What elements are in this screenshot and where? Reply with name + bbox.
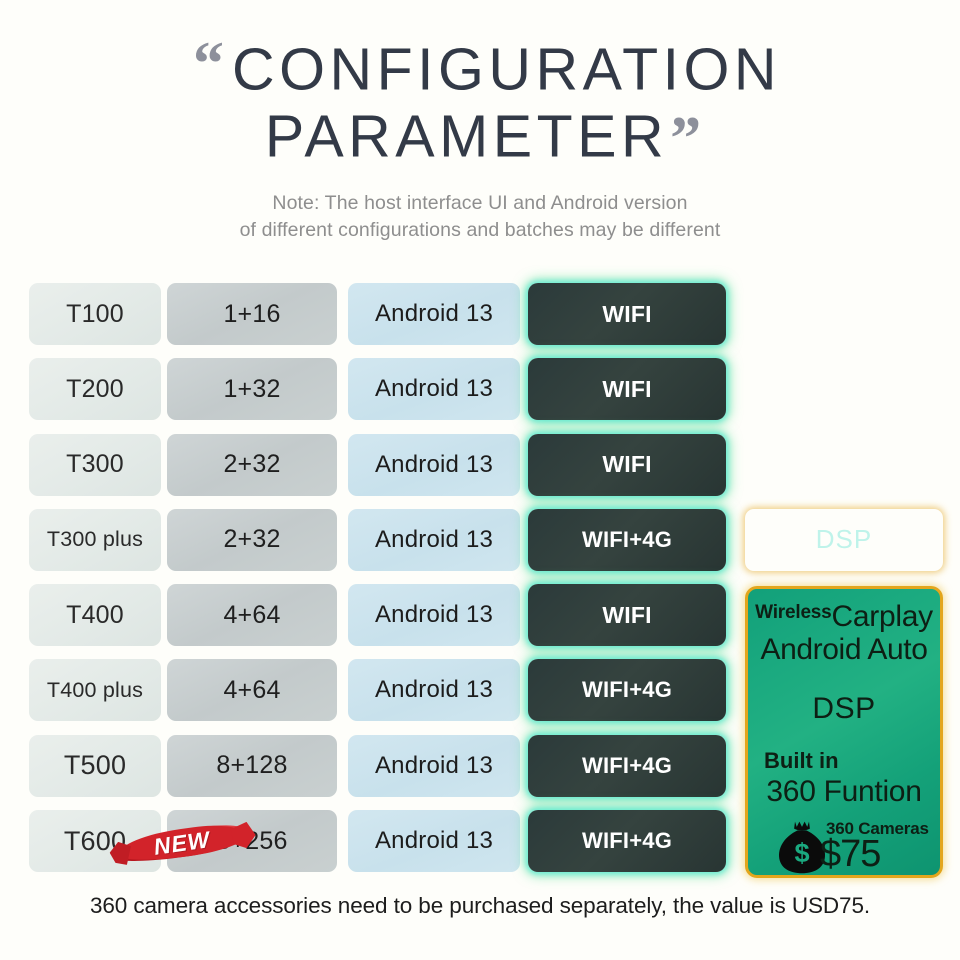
cell-network: WIFI+4G	[528, 735, 726, 797]
cell-model: T100	[29, 283, 161, 345]
cell-network: WIFI	[528, 584, 726, 646]
cell-memory: 4+64	[167, 659, 337, 721]
cell-memory: 1+16	[167, 283, 337, 345]
cell-os: Android 13	[348, 283, 520, 345]
cell-network: WIFI+4G	[528, 810, 726, 872]
cell-network: WIFI	[528, 434, 726, 496]
cell-os: Android 13	[348, 584, 520, 646]
note-line-2: of different configurations and batches …	[0, 217, 960, 244]
promo-price-label: $75	[820, 833, 880, 876]
title-line-2: PARAMETER”	[0, 101, 960, 168]
promo-price-row: $ 360 Cameras $75	[748, 815, 940, 878]
cell-model: T400 plus	[29, 659, 161, 721]
title-line-1: “CONFIGURATION	[0, 34, 960, 101]
open-quote-icon: “	[193, 32, 222, 96]
cell-os: Android 13	[348, 659, 520, 721]
cell-model: T400	[29, 584, 161, 646]
cell-network: WIFI+4G	[528, 509, 726, 571]
cell-os: Android 13	[348, 810, 520, 872]
promo-android-auto-label: Android Auto	[748, 634, 940, 666]
cell-memory: 8+256	[167, 810, 337, 872]
cell-os: Android 13	[348, 735, 520, 797]
table-row: T100 1+16 Android 13 WIFI	[0, 283, 960, 358]
note-line-1: Note: The host interface UI and Android …	[0, 190, 960, 217]
cell-network: WIFI	[528, 283, 726, 345]
title-text-line-2: PARAMETER	[265, 104, 668, 170]
table-row: T200 1+32 Android 13 WIFI	[0, 358, 960, 433]
cell-os: Android 13	[348, 509, 520, 571]
cell-os: Android 13	[348, 434, 520, 496]
cell-memory: 2+32	[167, 434, 337, 496]
promo-wireless-label: Wireless	[755, 602, 831, 623]
promo-carplay-label: Carplay	[832, 600, 933, 633]
table-row: T300 2+32 Android 13 WIFI	[0, 434, 960, 509]
cell-os: Android 13	[348, 358, 520, 420]
promo-360-function-label: 360 Funtion	[748, 775, 940, 809]
cell-model: T300	[29, 434, 161, 496]
table-row: T300 plus 2+32 Android 13 WIFI+4G DSP	[0, 509, 960, 584]
close-quote-icon: ”	[670, 107, 699, 171]
footer-note: 360 camera accessories need to be purcha…	[0, 893, 960, 919]
promo-built-in-label: Built in	[748, 750, 940, 772]
cell-memory: 2+32	[167, 509, 337, 571]
cell-model: T300 plus	[29, 509, 161, 571]
cell-memory: 4+64	[167, 584, 337, 646]
cell-network: WIFI	[528, 358, 726, 420]
cell-memory: 8+128	[167, 735, 337, 797]
cell-model: T200	[29, 358, 161, 420]
cell-dsp-feature: DSP	[745, 509, 943, 571]
cell-memory: 1+32	[167, 358, 337, 420]
svg-text:$: $	[794, 837, 809, 868]
promo-dsp-label: DSP	[748, 692, 940, 726]
note-block: Note: The host interface UI and Android …	[0, 190, 960, 244]
cell-model: T600	[29, 810, 161, 872]
title-text-line-1: CONFIGURATION	[232, 37, 781, 103]
cell-model: T500	[29, 735, 161, 797]
promo-carplay-line: WirelessCarplay	[748, 602, 940, 632]
promo-panel: WirelessCarplay Android Auto DSP Built i…	[745, 586, 943, 878]
page-title: “CONFIGURATION PARAMETER”	[0, 0, 960, 168]
cell-network: WIFI+4G	[528, 659, 726, 721]
